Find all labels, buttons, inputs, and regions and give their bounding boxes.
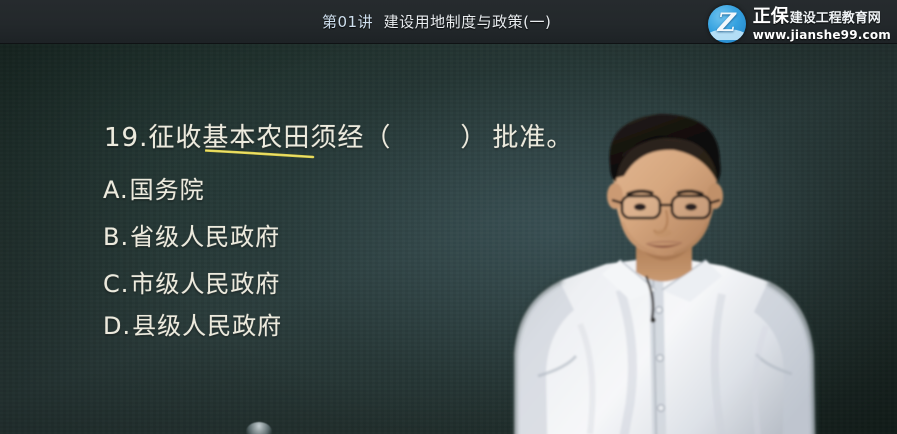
brand-logo[interactable]: Z 正保 建设工程教育网 www.jianshe99.com [708, 5, 891, 43]
lecture-topic: 建设用地制度与政策(一) [384, 13, 552, 31]
brand-name-suffix: 建设工程教育网 [790, 12, 881, 26]
title-bar: 第01讲 建设用地制度与政策(一) Z 正保 建设工程教育网 www.jians… [0, 0, 897, 44]
option-c-label: 市级人民政府 [130, 270, 280, 298]
option-d: D.县级人民政府 [103, 306, 282, 341]
option-a: A.国务院 [103, 170, 205, 205]
question-number: 19. [104, 123, 148, 153]
video-frame: 19.征收基本农田须经（ ）批准。 A.国务院 B.省级人民政府 C.市级人民政… [0, 0, 897, 434]
play-button-hint[interactable] [246, 422, 272, 434]
option-c: C.市级人民政府 [103, 264, 280, 299]
option-d-tag: D. [103, 312, 132, 340]
brand-url: www.jianshe99.com [753, 29, 891, 41]
question-blank: （ ） [364, 123, 492, 153]
brand-name-prefix: 正保 [753, 8, 789, 26]
lecture-title: 第01讲 建设用地制度与政策(一) [322, 10, 551, 34]
option-d-label: 县级人民政府 [132, 312, 282, 340]
brand-letter: Z [708, 5, 746, 43]
question-stem-before: 征收基本农田须经 [148, 123, 364, 153]
option-a-tag: A. [103, 176, 130, 204]
option-b: B.省级人民政府 [103, 217, 280, 252]
option-b-label: 省级人民政府 [130, 223, 280, 251]
lecture-number: 第01讲 [322, 13, 373, 31]
option-a-label: 国务院 [130, 176, 205, 204]
brand-name: 正保 建设工程教育网 [753, 8, 891, 26]
blackboard: 19.征收基本农田须经（ ）批准。 A.国务院 B.省级人民政府 C.市级人民政… [0, 44, 897, 434]
option-c-tag: C. [103, 270, 130, 298]
option-b-tag: B. [103, 223, 130, 251]
question-stem: 19.征收基本农田须经（ ）批准。 [104, 117, 573, 154]
brand-z-icon: Z [708, 5, 746, 43]
question-stem-after: 批准。 [492, 123, 573, 153]
brand-text-block: 正保 建设工程教育网 www.jianshe99.com [753, 8, 891, 41]
